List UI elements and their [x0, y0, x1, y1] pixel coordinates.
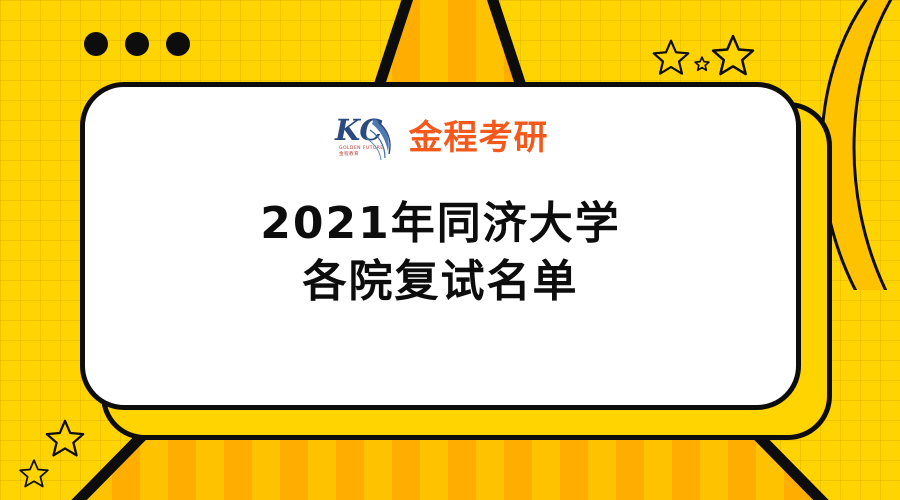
brand-logo: KC GOLDEN FUTURE 金程教育 金程考研: [333, 109, 549, 167]
star-bottom-left-small-icon: [18, 458, 50, 490]
content-card: KC GOLDEN FUTURE 金程教育 金程考研 2021年同济大学 各院复…: [80, 82, 801, 410]
svg-text:金程教育: 金程教育: [339, 150, 359, 157]
three-dots: [84, 32, 190, 56]
headline-line-2: 各院复试名单: [260, 253, 620, 311]
dot-2: [125, 32, 149, 56]
star-top-right-large-icon: [651, 38, 691, 78]
star-bottom-left-large-icon: [44, 418, 86, 460]
svg-text:KC: KC: [334, 113, 383, 147]
dot-1: [84, 32, 108, 56]
dot-3: [166, 32, 190, 56]
page-title: 2021年同济大学 各院复试名单: [260, 195, 620, 311]
kc-monogram-icon: KC GOLDEN FUTURE 金程教育: [333, 110, 405, 166]
headline-line-1: 2021年同济大学: [260, 198, 620, 249]
poster-canvas: KC GOLDEN FUTURE 金程教育 金程考研 2021年同济大学 各院复…: [0, 0, 900, 500]
star-top-right-solid-icon: [710, 33, 756, 79]
star-top-right-tiny-icon: [694, 56, 710, 72]
brand-name: 金程考研: [409, 121, 549, 155]
